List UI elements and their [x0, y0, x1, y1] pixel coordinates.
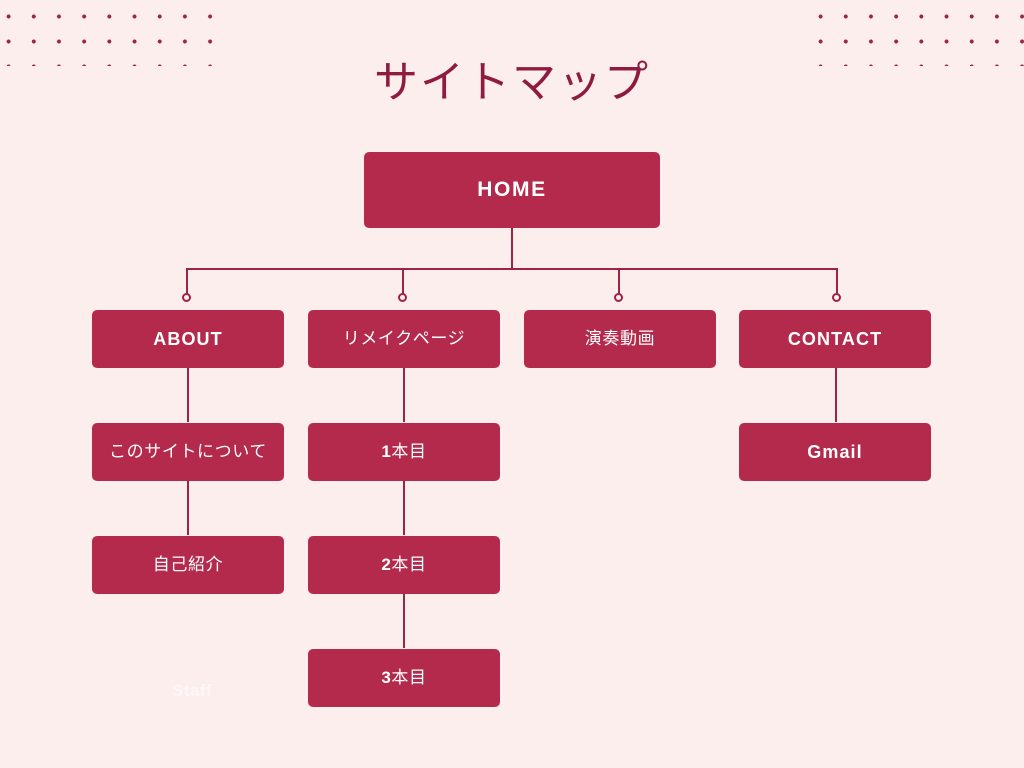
node-contact[interactable]: CONTACT [739, 310, 931, 368]
node-remake-item-1-suffix: 本目 [391, 442, 426, 461]
connector-remake-1-2 [403, 368, 405, 422]
connector-about-1-2 [187, 368, 189, 422]
node-remake-item-3-suffix: 本目 [391, 668, 426, 687]
node-remake-item-1[interactable]: 1本目 [308, 423, 500, 481]
sitemap-slide: サイトマップ HOME ABOUT このサイトについて 自己紹介 リメイクページ… [0, 0, 1024, 768]
node-self-introduction[interactable]: 自己紹介 [92, 536, 284, 594]
connector-drop-about [186, 268, 188, 295]
page-title: サイトマップ [0, 54, 1024, 112]
connector-about-2-3 [187, 481, 189, 535]
connector-drop-video [618, 268, 620, 295]
connector-ring-about [182, 293, 191, 302]
connector-contact-1-2 [835, 368, 837, 422]
node-remake-item-3[interactable]: 3本目 [308, 649, 500, 707]
node-remake-page[interactable]: リメイクページ [308, 310, 500, 368]
watermark-text: Staff [172, 681, 212, 701]
node-about-this-site[interactable]: このサイトについて [92, 423, 284, 481]
node-remake-item-2-suffix: 本目 [391, 555, 426, 574]
node-gmail[interactable]: Gmail [739, 423, 931, 481]
node-remake-item-1-number: 1 [381, 442, 391, 461]
connector-horizontal-bus [186, 268, 837, 270]
node-remake-item-2[interactable]: 2本目 [308, 536, 500, 594]
connector-remake-3-4 [403, 594, 405, 648]
connector-ring-contact [832, 293, 841, 302]
node-about[interactable]: ABOUT [92, 310, 284, 368]
node-remake-item-3-number: 3 [381, 668, 391, 687]
connector-drop-remake [402, 268, 404, 295]
connector-ring-remake [398, 293, 407, 302]
connector-ring-video [614, 293, 623, 302]
connector-remake-2-3 [403, 481, 405, 535]
connector-drop-contact [836, 268, 838, 295]
node-performance-video[interactable]: 演奏動画 [524, 310, 716, 368]
connector-home-stem [511, 228, 513, 269]
node-home[interactable]: HOME [364, 152, 660, 228]
node-remake-item-2-number: 2 [381, 555, 391, 574]
